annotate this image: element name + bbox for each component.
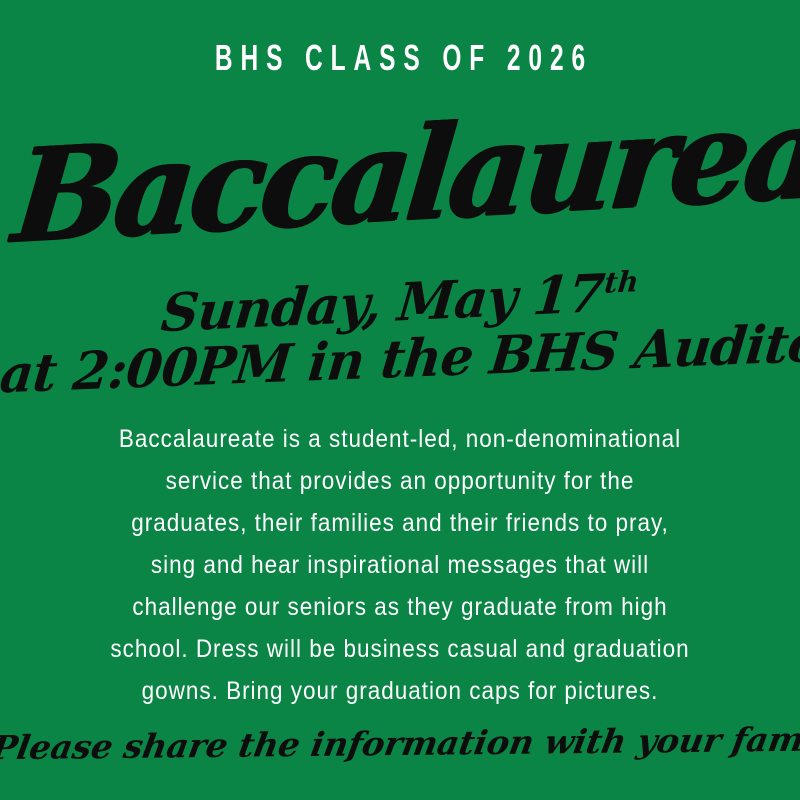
description-line: service that provides an opportunity for… (63, 460, 736, 502)
flyer-eyebrow: BHS CLASS OF 2026 (112, 38, 688, 78)
description-line: sing and hear inspirational messages tha… (63, 544, 736, 586)
flyer-title-wrap: Baccalaureate (0, 96, 800, 256)
event-date-ordinal: th (603, 264, 640, 300)
flyer-description: Baccalaureate is a student-led, non-deno… (26, 418, 774, 712)
description-line: challenge our seniors as they graduate f… (63, 586, 736, 628)
flyer-footer-note: Please share the information with your f… (0, 718, 800, 771)
page-title: Baccalaureate (7, 69, 800, 272)
description-line: graduates, their families and their frie… (63, 502, 736, 544)
baccalaureate-flyer: BHS CLASS OF 2026 Baccalaureate Sunday, … (0, 0, 800, 800)
description-line: school. Dress will be business casual an… (63, 628, 736, 670)
description-line: Baccalaureate is a student-led, non-deno… (63, 418, 736, 460)
description-line: gowns. Bring your graduation caps for pi… (63, 670, 736, 712)
